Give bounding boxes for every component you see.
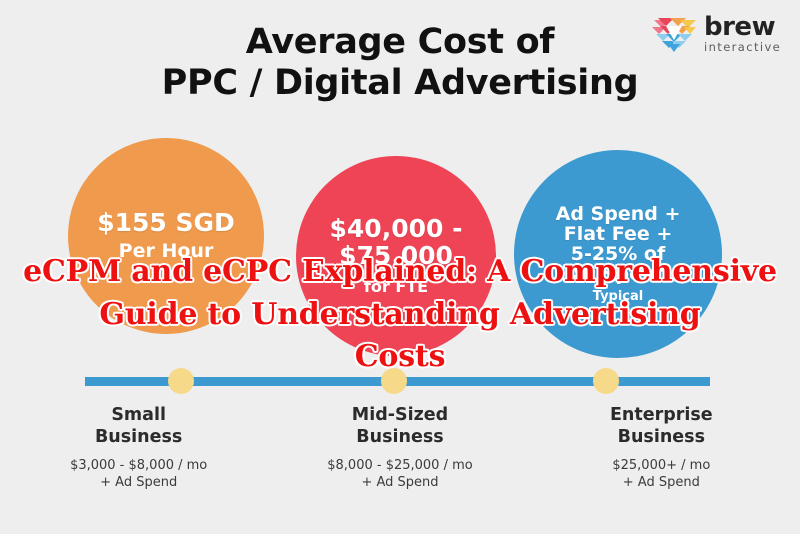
segment-price-enterprise-business: $25,000+ / mo + Ad Spend	[531, 457, 792, 491]
segment-title-mid-line-2: Business	[269, 426, 530, 448]
segment-price-small-line-1: $3,000 - $8,000 / mo	[8, 457, 269, 474]
segment-title-small-line-2: Business	[8, 426, 269, 448]
segment-column-small-business: Small Business $3,000 - $8,000 / mo + Ad…	[8, 404, 269, 491]
segment-title-small-line-1: Small	[8, 404, 269, 426]
cost-bubble-enterprise-amount-line-1: Ad Spend +	[556, 204, 681, 224]
segment-price-small-line-2: + Ad Spend	[8, 474, 269, 491]
segment-price-enterprise-line-2: + Ad Spend	[531, 474, 792, 491]
article-title-overlay: eCPM and eCPC Explained: A Comprehensive…	[0, 251, 800, 379]
segment-price-mid-line-1: $8,000 - $25,000 / mo	[269, 457, 530, 474]
article-title-line-2: Guide to Understanding Advertising	[0, 294, 800, 337]
page-title-line-2: PPC / Digital Advertising	[0, 63, 800, 104]
segment-column-mid-sized-business: Mid-Sized Business $8,000 - $25,000 / mo…	[269, 404, 530, 491]
segment-price-enterprise-line-1: $25,000+ / mo	[531, 457, 792, 474]
segment-price-mid-line-2: + Ad Spend	[269, 474, 530, 491]
article-title-line-1: eCPM and eCPC Explained: A Comprehensive	[0, 251, 800, 294]
segment-title-mid-line-1: Mid-Sized	[269, 404, 530, 426]
cost-bubble-enterprise-amount-line-2: Flat Fee +	[564, 224, 673, 244]
segment-title-enterprise-line-1: Enterprise	[531, 404, 792, 426]
segment-price-small-business: $3,000 - $8,000 / mo + Ad Spend	[8, 457, 269, 491]
segment-columns: Small Business $3,000 - $8,000 / mo + Ad…	[0, 404, 800, 491]
segment-title-enterprise-business: Enterprise Business	[531, 404, 792, 448]
page-title-line-1: Average Cost of	[0, 22, 800, 63]
page-title: Average Cost of PPC / Digital Advertisin…	[0, 22, 800, 105]
article-title-line-3: Costs	[0, 336, 800, 379]
segment-price-mid-sized-business: $8,000 - $25,000 / mo + Ad Spend	[269, 457, 530, 491]
cost-bubble-small-amount: $155 SGD	[97, 210, 235, 237]
cost-bubble-mid-amount-line-1: $40,000 -	[330, 216, 463, 243]
segment-title-mid-sized-business: Mid-Sized Business	[269, 404, 530, 448]
segment-column-enterprise-business: Enterprise Business $25,000+ / mo + Ad S…	[531, 404, 792, 491]
infographic-canvas: brew interactive Average Cost of PPC / D…	[0, 0, 800, 534]
segment-title-enterprise-line-2: Business	[531, 426, 792, 448]
segment-title-small-business: Small Business	[8, 404, 269, 448]
